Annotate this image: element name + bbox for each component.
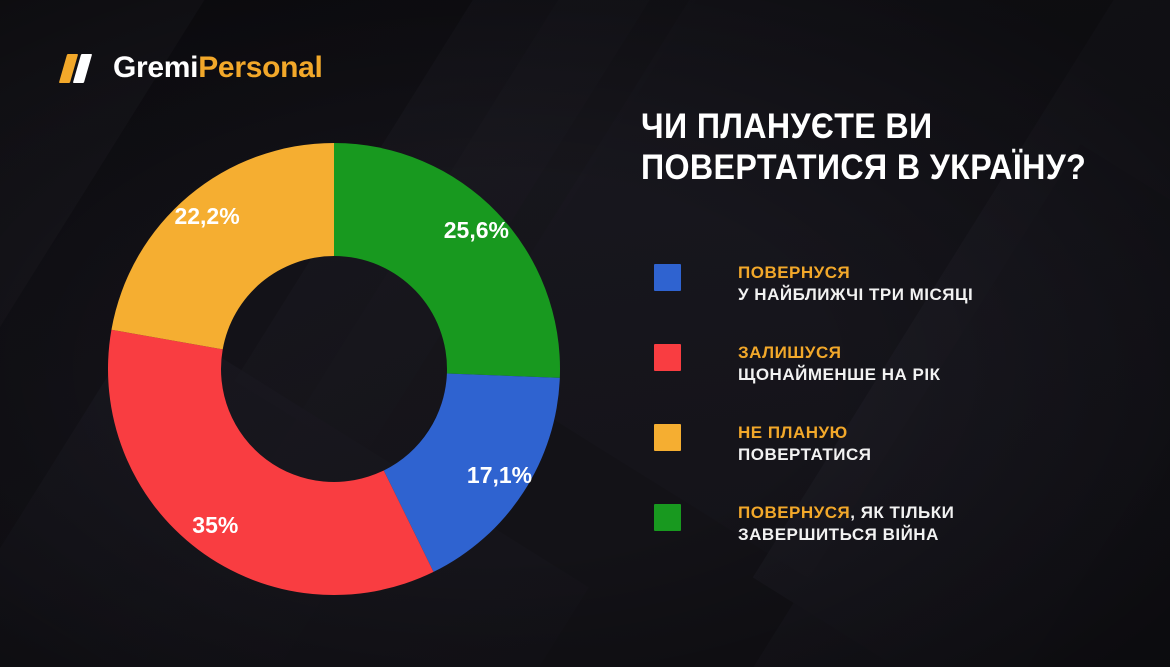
legend-heading-emphasis: ПОВЕРНУСЯ [738, 263, 850, 282]
legend-color-swatch [654, 424, 681, 451]
legend-item[interactable]: НЕ ПЛАНУЮПОВЕРТАТИСЯ [654, 422, 1124, 502]
legend-heading-emphasis: ПОВЕРНУСЯ [738, 503, 850, 522]
donut-slice-label: 25,6% [444, 217, 509, 243]
legend-heading: НЕ ПЛАНУЮ [738, 422, 872, 444]
legend-detail: ЩОНАЙМЕНШЕ НА РІК [738, 364, 940, 386]
legend-detail: ЗАВЕРШИТЬСЯ ВІЙНА [738, 524, 954, 546]
legend-heading: ПОВЕРНУСЯ, ЯК ТІЛЬКИ [738, 502, 954, 524]
donut-slice-label: 17,1% [467, 462, 532, 488]
legend-text: ПОВЕРНУСЯ, ЯК ТІЛЬКИЗАВЕРШИТЬСЯ ВІЙНА [738, 502, 954, 546]
brand-name: GremiPersonal [113, 53, 323, 83]
legend-text: ЗАЛИШУСЯЩОНАЙМЕНШЕ НА РІК [738, 342, 940, 386]
legend-detail: У НАЙБЛИЖЧІ ТРИ МІСЯЦІ [738, 284, 973, 306]
donut-slice-label: 35% [192, 512, 238, 538]
legend-heading-emphasis: ЗАЛИШУСЯ [738, 343, 841, 362]
legend-heading-suffix: , ЯК ТІЛЬКИ [850, 503, 954, 522]
legend-heading: ЗАЛИШУСЯ [738, 342, 940, 364]
legend-text: НЕ ПЛАНУЮПОВЕРТАТИСЯ [738, 422, 872, 466]
legend-text: ПОВЕРНУСЯУ НАЙБЛИЖЧІ ТРИ МІСЯЦІ [738, 262, 973, 306]
donut-slice[interactable] [108, 330, 434, 595]
page-title-line-1: ЧИ ПЛАНУЄТЕ ВИ [641, 106, 1101, 147]
brand-logo: GremiPersonal [62, 52, 323, 84]
legend-detail: ПОВЕРТАТИСЯ [738, 444, 872, 466]
chart-legend: ПОВЕРНУСЯУ НАЙБЛИЖЧІ ТРИ МІСЯЦІЗАЛИШУСЯЩ… [654, 262, 1124, 582]
brand-name-part1: Gremi [113, 51, 198, 84]
donut-slice[interactable] [334, 143, 560, 378]
page-title-line-2: ПОВЕРТАТИСЯ В УКРАЇНУ? [641, 147, 1101, 188]
donut-slice-label: 22,2% [174, 203, 239, 229]
legend-item[interactable]: ПОВЕРНУСЯ, ЯК ТІЛЬКИЗАВЕРШИТЬСЯ ВІЙНА [654, 502, 1124, 582]
legend-color-swatch [654, 504, 681, 531]
legend-color-swatch [654, 264, 681, 291]
page-title: ЧИ ПЛАНУЄТЕ ВИ ПОВЕРТАТИСЯ В УКРАЇНУ? [641, 106, 1101, 189]
donut-chart-svg: 25,6%17,1%35%22,2% [108, 143, 560, 595]
brand-name-part2: Personal [198, 51, 322, 84]
legend-color-swatch [654, 344, 681, 371]
donut-slice[interactable] [111, 143, 334, 349]
infographic-canvas: GremiPersonal 25,6%17,1%35%22,2% ЧИ ПЛАН… [0, 0, 1170, 667]
legend-heading: ПОВЕРНУСЯ [738, 262, 973, 284]
legend-item[interactable]: ПОВЕРНУСЯУ НАЙБЛИЖЧІ ТРИ МІСЯЦІ [654, 262, 1124, 342]
legend-item[interactable]: ЗАЛИШУСЯЩОНАЙМЕНШЕ НА РІК [654, 342, 1124, 422]
donut-chart: 25,6%17,1%35%22,2% [108, 143, 560, 595]
gremi-mark-icon [62, 52, 104, 84]
legend-heading-emphasis: НЕ ПЛАНУЮ [738, 423, 848, 442]
